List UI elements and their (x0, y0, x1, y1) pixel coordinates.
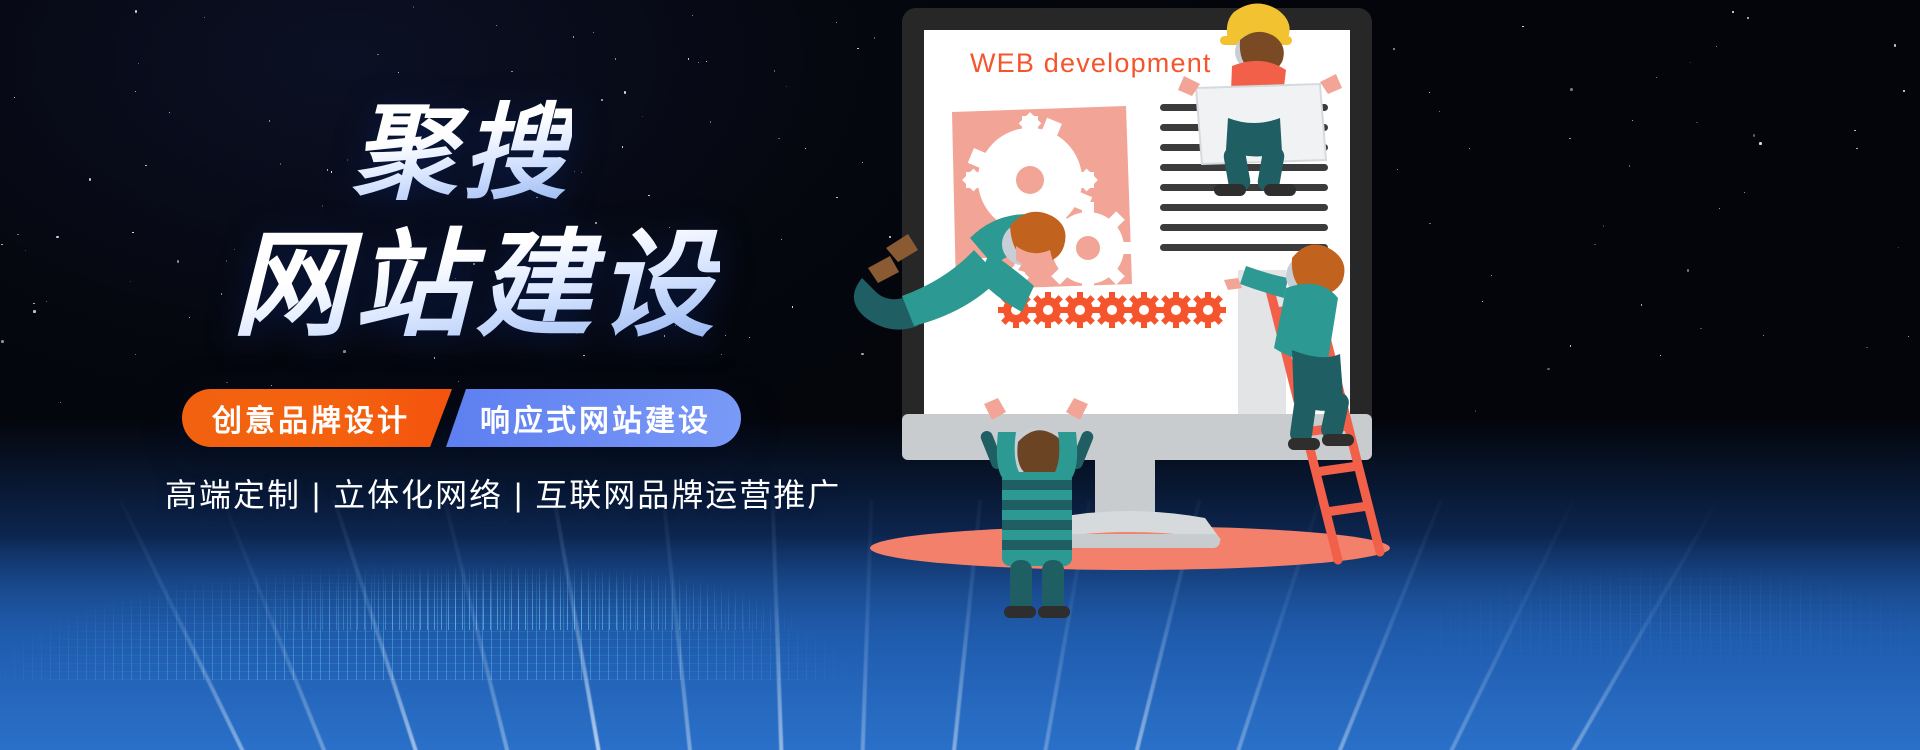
pill-segment-brand-design[interactable]: 创意品牌设计 (182, 389, 452, 447)
promo-banner: 聚搜 网站建设 创意品牌设计 响应式网站建设 高端定制 | 立体化网络 | 互联… (0, 0, 1920, 750)
pill-segment-responsive-site[interactable]: 响应式网站建设 (446, 389, 741, 447)
gear-row-item (1094, 292, 1130, 328)
gear-row-item (1158, 292, 1194, 328)
headline-block: 聚搜 网站建设 创意品牌设计 响应式网站建设 高端定制 | 立体化网络 | 互联… (0, 0, 900, 750)
gear-row-item (1030, 292, 1066, 328)
headline-line-1: 聚搜 (352, 98, 572, 210)
screen-heading: WEB development (970, 48, 1212, 78)
illustration: WEB development (840, 0, 1920, 750)
gear-row-item (1062, 292, 1098, 328)
service-pill: 创意品牌设计 响应式网站建设 (182, 389, 741, 447)
gear-row-item (1126, 292, 1162, 328)
striped-shirt (1002, 472, 1072, 566)
gear-row-item (1190, 292, 1226, 328)
headline-line-2: 网站建设 (232, 222, 720, 348)
tagline: 高端定制 | 立体化网络 | 互联网品牌运营推广 (165, 470, 841, 516)
illustration-svg: WEB development (840, 0, 1920, 750)
